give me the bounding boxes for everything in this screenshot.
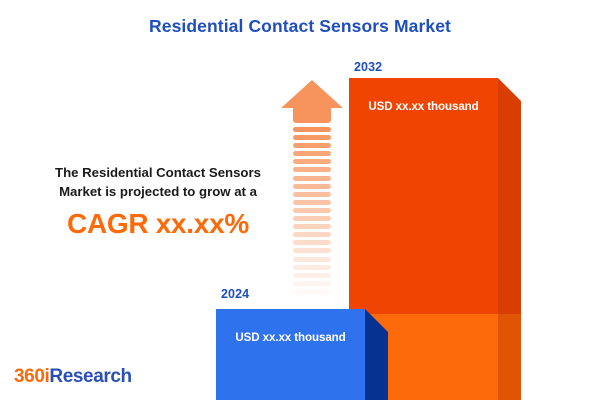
callout-line-1: The Residential Contact Sensors: [18, 163, 298, 182]
bar-2032-value-label: USD xx.xx thousand: [349, 100, 498, 113]
arrow-shaft-stripe: [293, 143, 331, 148]
year-label-2024: 2024: [221, 287, 249, 301]
arrow-shaft-stripe: [293, 208, 331, 213]
arrow-shaft-stripe: [293, 159, 331, 164]
arrow-shaft: [293, 127, 331, 302]
arrow-shaft-stripe: [293, 151, 331, 156]
arrow-shaft-stripe: [293, 273, 331, 278]
arrow-shaft-stripe: [293, 135, 331, 140]
logo-360: 360: [14, 366, 45, 387]
cagr-callout: The Residential Contact Sensors Market i…: [18, 163, 298, 240]
year-label-2032: 2032: [354, 60, 382, 74]
arrow-head-icon: [281, 80, 343, 108]
logo-research: Research: [49, 366, 131, 387]
bar-2024-side-face: [365, 309, 388, 400]
bar-2024-value-label: USD xx.xx thousand: [216, 331, 365, 344]
bar-2024: USD xx.xx thousand: [216, 309, 388, 400]
arrow-shaft-stripe: [293, 257, 331, 262]
cagr-value: CAGR xx.xx%: [18, 208, 298, 240]
growth-arrow-icon: [281, 80, 343, 302]
arrow-shaft-stripe: [293, 184, 331, 189]
arrow-shaft-stripe: [293, 232, 331, 237]
arrow-shaft-stripe: [293, 240, 331, 245]
arrow-shaft-stripe: [293, 281, 331, 286]
arrow-shaft-stripe: [293, 200, 331, 205]
infographic-canvas: Residential Contact Sensors Market The R…: [0, 0, 600, 400]
bar-2032-side-overlap: [498, 314, 521, 400]
page-title: Residential Contact Sensors Market: [0, 16, 600, 37]
arrow-neck: [293, 108, 331, 123]
bar-2024-front-face: [216, 309, 365, 400]
arrow-shaft-stripe: [293, 127, 331, 132]
arrow-shaft-stripe: [293, 216, 331, 221]
arrow-shaft-stripe: [293, 265, 331, 270]
arrow-shaft-stripe: [293, 289, 331, 294]
arrow-shaft-stripe: [293, 176, 331, 181]
arrow-shaft-stripe: [293, 224, 331, 229]
arrow-shaft-stripe: [293, 167, 331, 172]
arrow-shaft-stripe: [293, 192, 331, 197]
callout-line-2: Market is projected to grow at a: [18, 182, 298, 201]
brand-logo[interactable]: 360iResearch: [14, 366, 132, 388]
arrow-shaft-stripe: [293, 248, 331, 253]
